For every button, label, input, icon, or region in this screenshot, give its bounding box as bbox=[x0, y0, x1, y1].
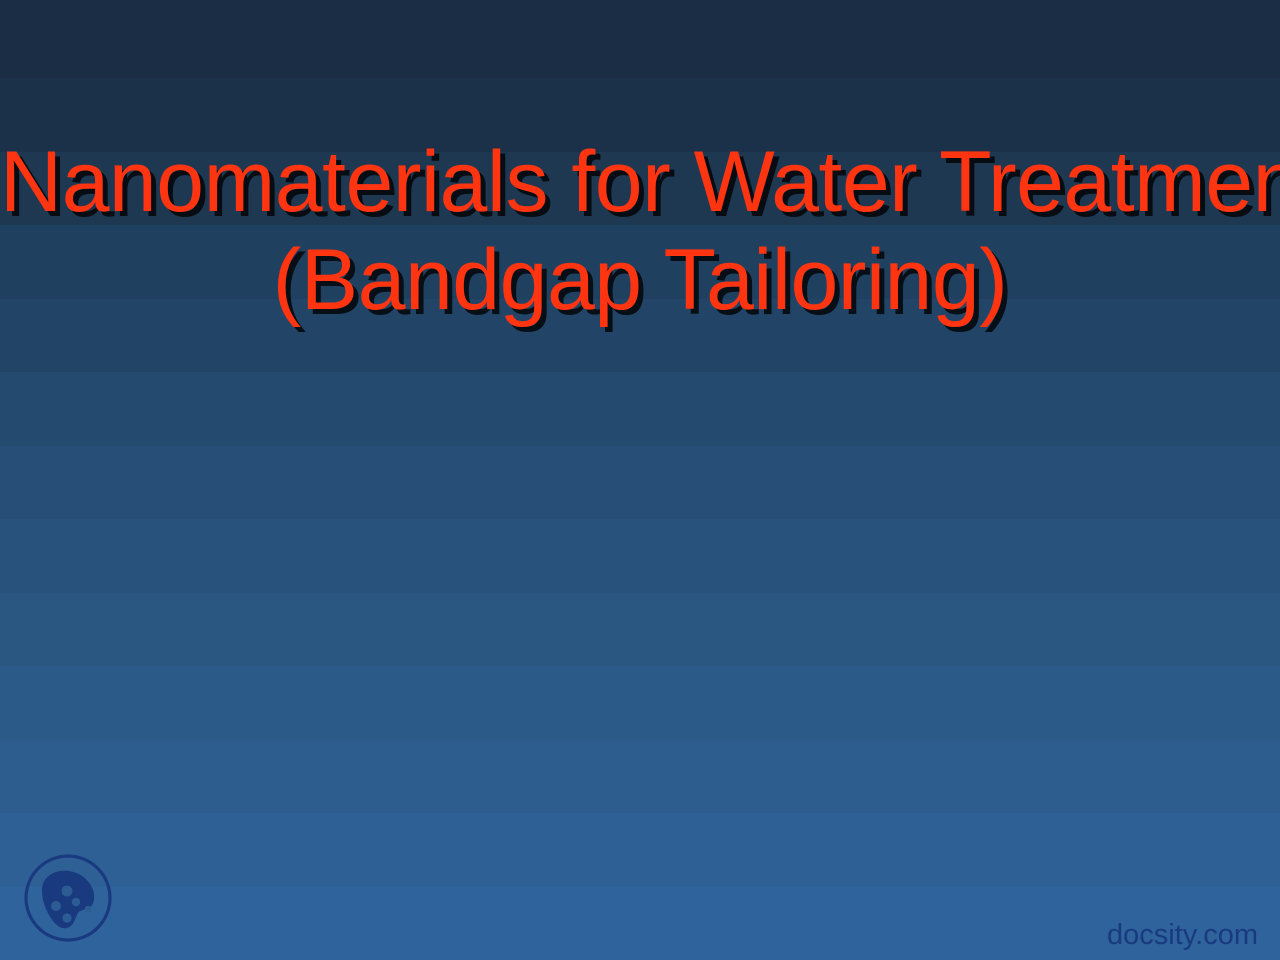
background-band bbox=[0, 372, 1280, 446]
background-band bbox=[0, 887, 1280, 960]
background-band bbox=[0, 519, 1280, 593]
docsity-watermark: docsity.com bbox=[1107, 919, 1258, 952]
title-line-1: Nanomaterials for Water Treatment bbox=[0, 133, 1280, 231]
docsity-logo-icon bbox=[22, 852, 114, 944]
background-band bbox=[0, 813, 1280, 887]
background-band bbox=[0, 593, 1280, 667]
background-band bbox=[0, 0, 1280, 78]
background-band bbox=[0, 666, 1280, 740]
page-title: Nanomaterials for Water Treatment (Bandg… bbox=[0, 133, 1280, 329]
title-line-2: (Bandgap Tailoring) bbox=[0, 231, 1280, 329]
background-band bbox=[0, 446, 1280, 520]
background-band bbox=[0, 740, 1280, 814]
presentation-slide: Nanomaterials for Water Treatment (Bandg… bbox=[0, 0, 1280, 960]
